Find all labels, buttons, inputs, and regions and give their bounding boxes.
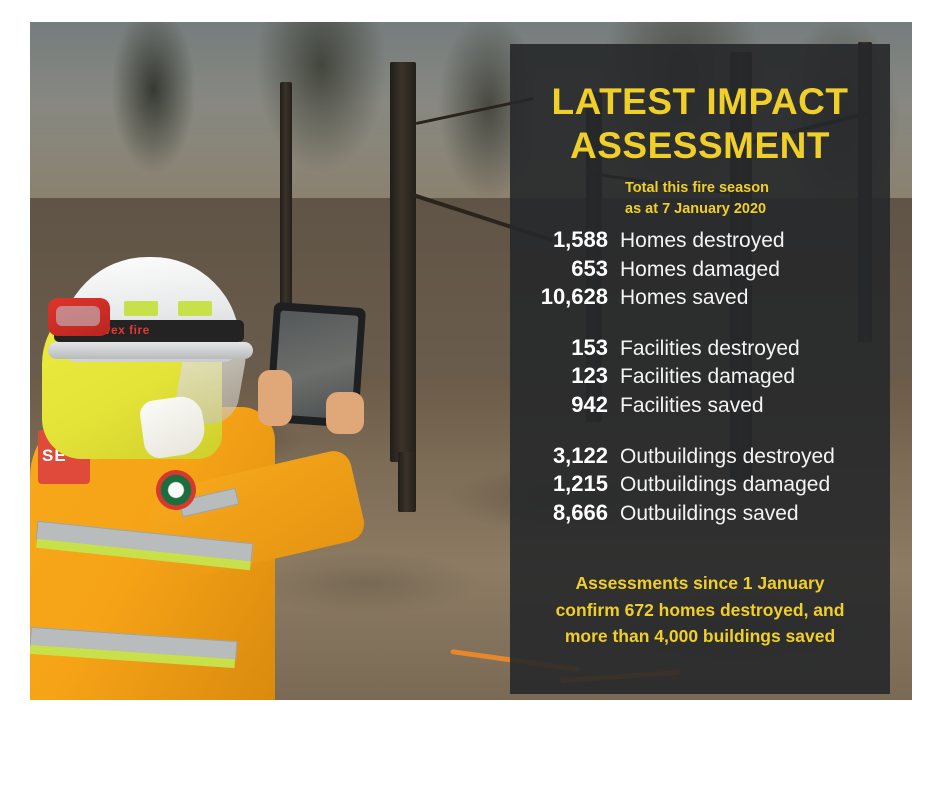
tree-trunk [390,62,416,462]
summary-line-2: confirm 672 homes destroyed, and [530,597,870,624]
helmet-brim [48,342,253,359]
stat-label: Outbuildings destroyed [620,443,835,470]
title-line-2: ASSESSMENT [510,124,890,168]
summary-line-1: Assessments since 1 January [530,570,870,597]
firefighter-figure: SE uvex fire [30,202,360,700]
footer-bar: NSW GOVERNMENT [0,700,940,788]
stat-value: 10,628 [510,283,620,312]
summary-line-3: more than 4,000 buildings saved [530,623,870,650]
stat-value: 8,666 [510,499,620,528]
goggles-lens [56,306,100,326]
stat-label: Homes damaged [620,256,780,283]
title-line-1: LATEST IMPACT [510,80,890,124]
stat-row: 10,628 Homes saved [510,283,890,312]
firefighter-hand [326,392,364,434]
firefighter-hand [258,370,292,426]
stat-value: 1,215 [510,470,620,499]
impact-assessment-panel: LATEST IMPACT ASSESSMENT Total this fire… [510,44,890,694]
stat-value: 1,588 [510,226,620,255]
summary-statement: Assessments since 1 January confirm 672 … [530,570,870,650]
stat-row: 8,666 Outbuildings saved [510,499,890,528]
stat-label: Facilities destroyed [620,335,800,362]
stat-value: 942 [510,391,620,420]
stat-group-homes: 1,588 Homes destroyed 653 Homes damaged … [510,226,890,312]
stat-group-facilities: 153 Facilities destroyed 123 Facilities … [510,334,890,420]
stat-row: 942 Facilities saved [510,391,890,420]
stat-label: Homes saved [620,284,748,311]
page-title: LATEST IMPACT ASSESSMENT [510,80,890,167]
stat-label: Outbuildings saved [620,500,799,527]
stat-label: Homes destroyed [620,227,785,254]
tree-trunk [398,452,416,512]
infographic-poster: SE uvex fire LATE [0,0,940,788]
stat-value: 123 [510,362,620,391]
helmet-reflective-patch [178,301,212,316]
stat-label: Facilities damaged [620,363,795,390]
stat-row: 153 Facilities destroyed [510,334,890,363]
helmet-reflective-patch [124,301,158,316]
stat-value: 653 [510,255,620,284]
stat-row: 1,588 Homes destroyed [510,226,890,255]
safety-goggles [48,298,110,336]
subtitle-line-1: Total this fire season [625,178,769,199]
stat-row: 653 Homes damaged [510,255,890,284]
stat-value: 153 [510,334,620,363]
stat-group-outbuildings: 3,122 Outbuildings destroyed 1,215 Outbu… [510,442,890,528]
stat-row: 1,215 Outbuildings damaged [510,470,890,499]
stat-label: Outbuildings damaged [620,471,830,498]
panel-subtitle: Total this fire season as at 7 January 2… [625,178,769,220]
statistics-list: 1,588 Homes destroyed 653 Homes damaged … [510,226,890,549]
stat-value: 3,122 [510,442,620,471]
stat-row: 3,122 Outbuildings destroyed [510,442,890,471]
stat-label: Facilities saved [620,392,764,419]
subtitle-line-2: as at 7 January 2020 [625,199,769,220]
stat-row: 123 Facilities damaged [510,362,890,391]
